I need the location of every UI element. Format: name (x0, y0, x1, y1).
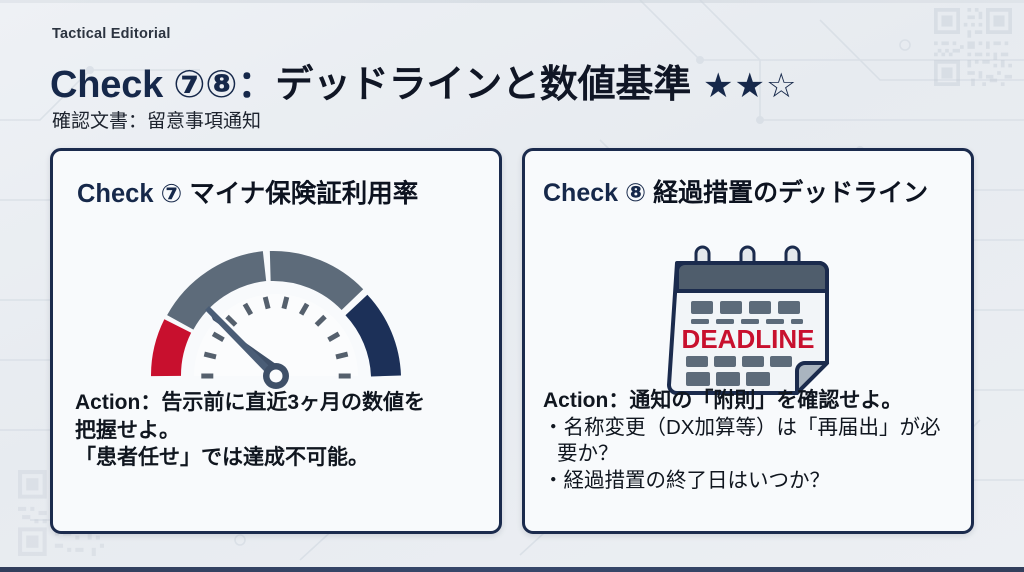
calendar-deadline-icon: DEADLINE (653, 243, 843, 403)
card-check-7-title: Check ⑦ マイナ保険証利用率 (77, 173, 418, 210)
title-check-number: Check ⑦⑧ (50, 64, 237, 106)
qr-code-watermark-top-right (934, 8, 1012, 86)
title-separator: ： (237, 64, 275, 106)
card-check-7[interactable]: Check ⑦ マイナ保険証利用率 (50, 148, 502, 534)
card-check-8-heading: 経過措置のデッドライン (653, 179, 928, 207)
card-check-8-action-line: Action：通知の「附則」を確認せよ。 (543, 387, 955, 415)
card-check-7-label: Check ⑦ (77, 180, 182, 208)
card-check-8-title: Check ⑧ 経過措置のデッドライン (543, 173, 928, 209)
card-check-7-action-line-3: 「患者任せ」では達成不可能。 (75, 444, 483, 472)
card-check-8[interactable]: Check ⑧ 経過措置のデッドライン (522, 148, 974, 534)
slide-canvas: Tactical Editorial Check ⑦⑧：デッドラインと数値基準★… (0, 0, 1024, 572)
page-subtitle: 確認文書：留意事項通知 (52, 106, 261, 133)
card-check-8-bullet-list: ・名称変更（DX加算等）は「再届出」が必要か？ ・経過措置の終了日はいつか？ (543, 415, 955, 495)
difficulty-stars: ★★☆ (703, 67, 797, 105)
title-japanese: デッドラインと数値基準 (275, 64, 691, 106)
card-check-8-label: Check ⑧ (543, 179, 646, 207)
card-check-7-action-line-1: Action：告示前に直近3ヶ月の数値を (75, 389, 483, 417)
top-edge-strip (0, 0, 1024, 3)
list-item: ・経過措置の終了日はいつか？ (543, 468, 955, 495)
card-check-8-body: Action：通知の「附則」を確認せよ。 ・名称変更（DX加算等）は「再届出」が… (543, 387, 955, 495)
card-check-7-body: Action：告示前に直近3ヶ月の数値を 把握せよ。 「患者任せ」では達成不可能… (75, 389, 483, 472)
card-check-7-heading: マイナ保険証利用率 (189, 180, 418, 208)
page-title: Check ⑦⑧：デッドラインと数値基準★★☆ (50, 53, 797, 108)
kicker-label: Tactical Editorial (52, 26, 171, 42)
list-item: ・名称変更（DX加算等）は「再届出」が必要か？ (543, 415, 955, 468)
bottom-edge-strip (0, 567, 1024, 572)
svg-text:DEADLINE: DEADLINE (682, 324, 815, 354)
card-check-7-action-line-2: 把握せよ。 (75, 417, 483, 445)
speedometer-gauge-icon (151, 248, 401, 398)
